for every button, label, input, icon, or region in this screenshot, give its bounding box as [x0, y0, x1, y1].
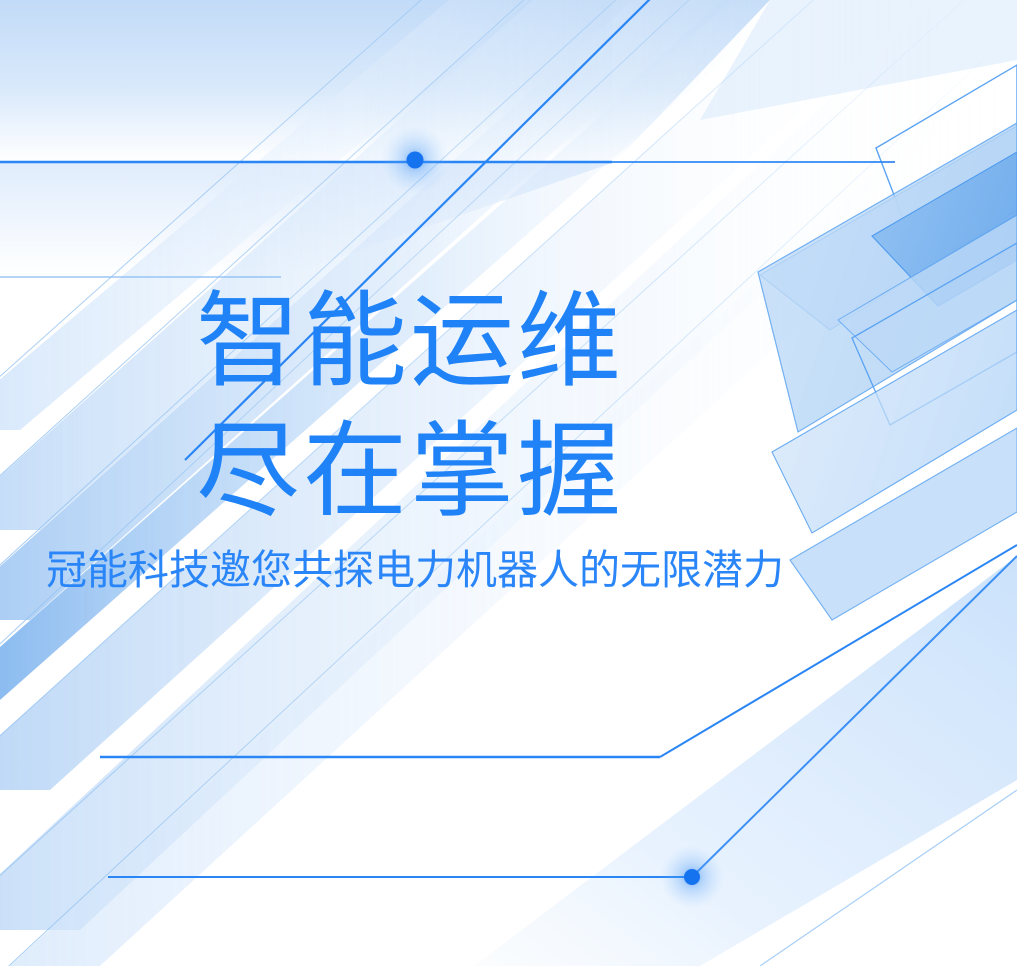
- glow-node-top: [381, 126, 449, 194]
- headline-line-1: 智能运维: [0, 276, 830, 406]
- right-band-edge-top: [692, 556, 1017, 877]
- headline-line-2: 尽在掌握: [0, 406, 830, 536]
- right-wide-diagonal-band: [474, 556, 1017, 966]
- parallelogram-deep-1: [872, 152, 1017, 306]
- top-left-lower-slab: [0, 162, 615, 277]
- promo-banner: 智能运维 尽在掌握 冠能科技邀您共探电力机器人的无限潜力: [0, 0, 1017, 966]
- node-dot-bottom: [684, 869, 700, 885]
- parallelogram-outline-2: [852, 243, 1017, 425]
- top-left-upper-slab: [0, 0, 770, 162]
- glow-node-bottom: [660, 845, 724, 909]
- node-glow-halo-bottom: [660, 845, 724, 909]
- node-glow-halo-top: [381, 126, 449, 194]
- right-band-edge-bottom: [760, 790, 1017, 966]
- right-bottom-band-group: [474, 556, 1017, 966]
- headline-text-block: 智能运维 尽在掌握 冠能科技邀您共探电力机器人的无限潜力: [0, 276, 830, 594]
- top-right-corner-wedge: [700, 0, 1017, 120]
- parallelogram-outline-1: [876, 65, 1017, 268]
- node-dot-top: [407, 152, 424, 169]
- banner-subtitle: 冠能科技邀您共探电力机器人的无限潜力: [0, 546, 830, 594]
- top-left-gradient-panel: [0, 0, 612, 162]
- top-left-panel-group: [0, 0, 1017, 277]
- parallelogram-band-2: [838, 215, 1017, 372]
